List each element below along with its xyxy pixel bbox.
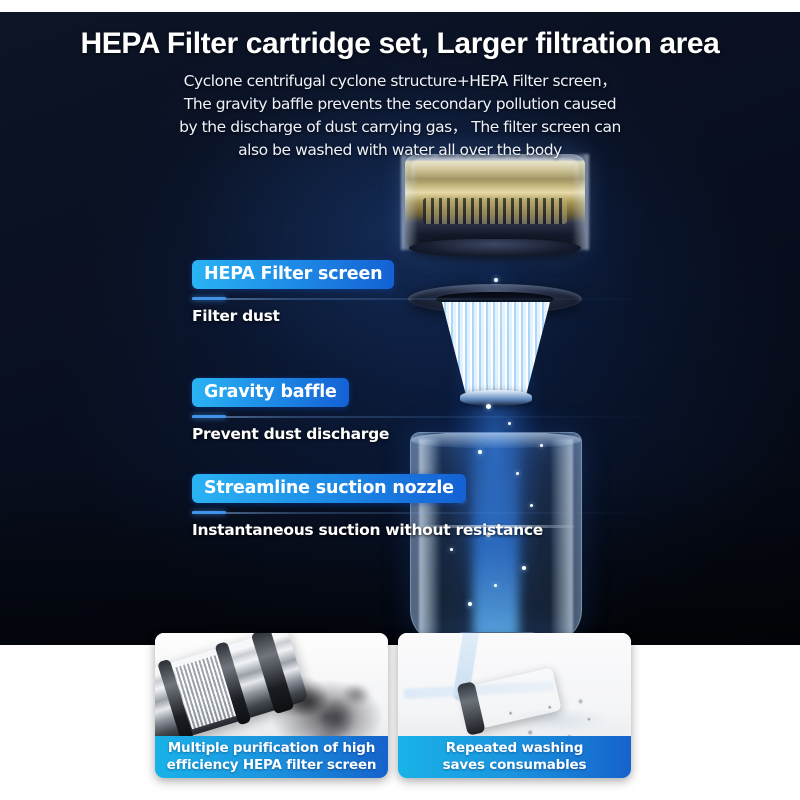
callout-badge-label: Streamline suction nozzle (192, 474, 466, 503)
card-caption-line-2: efficiency HEPA filter screen (167, 757, 377, 774)
callout-subtext: Instantaneous suction without resistance (192, 521, 662, 539)
description-line-2: The gravity baffle prevents the secondar… (0, 93, 800, 116)
card-caption-line-1: Repeated washing (443, 740, 587, 757)
callout-leader-line (192, 298, 662, 300)
dust-particle (468, 602, 472, 606)
card-caption: Repeated washing saves consumables (398, 736, 631, 778)
cyclone-ribs (423, 198, 567, 224)
cyclone-glass-left (401, 154, 417, 250)
feature-card-washing[interactable]: Repeated washing saves consumables (398, 633, 631, 778)
cartridge-end-cap (251, 633, 295, 714)
description-line-1: Cyclone centrifugal cyclone structure+HE… (0, 70, 800, 93)
callout-gravity-baffle: Gravity baffle Prevent dust discharge (192, 378, 662, 443)
callout-badge-label: HEPA Filter screen (192, 260, 394, 289)
feature-card-row: Multiple purification of high efficiency… (155, 633, 643, 778)
card-caption: Multiple purification of high efficiency… (155, 736, 388, 778)
dust-particle (478, 450, 482, 454)
callout-leader-line (192, 416, 662, 418)
callout-streamline-suction-nozzle: Streamline suction nozzle Instantaneous … (192, 474, 662, 539)
callout-badge-label: Gravity baffle (192, 378, 349, 407)
page-title: HEPA Filter cartridge set, Larger filtra… (0, 27, 800, 61)
description-block: Cyclone centrifugal cyclone structure+HE… (0, 70, 800, 162)
dust-particle (522, 566, 526, 570)
cyclone-glass-right (573, 154, 589, 250)
description-line-4: also be washed with water all over the b… (0, 139, 800, 162)
card-caption-line-2: saves consumables (443, 757, 587, 774)
callout-subtext: Prevent dust discharge (192, 425, 662, 443)
filter-end-cap (456, 681, 485, 736)
dust-particle (540, 444, 543, 447)
card-caption-line-1: Multiple purification of high (167, 740, 377, 757)
product-feature-banner: HEPA Filter cartridge set, Larger filtra… (0, 0, 800, 800)
feature-card-purification[interactable]: Multiple purification of high efficiency… (155, 633, 388, 778)
dust-particle (450, 548, 453, 551)
callout-leader-line (192, 512, 662, 514)
callout-subtext: Filter dust (192, 307, 662, 325)
description-line-3: by the discharge of dust carrying gas， T… (0, 116, 800, 139)
callout-hepa-filter-screen: HEPA Filter screen Filter dust (192, 260, 662, 325)
dust-particle (494, 584, 497, 587)
hero-dark-panel: HEPA Filter cartridge set, Larger filtra… (0, 12, 800, 645)
cyclone-separator-part (405, 154, 585, 250)
cyclone-base-ring (409, 239, 581, 257)
